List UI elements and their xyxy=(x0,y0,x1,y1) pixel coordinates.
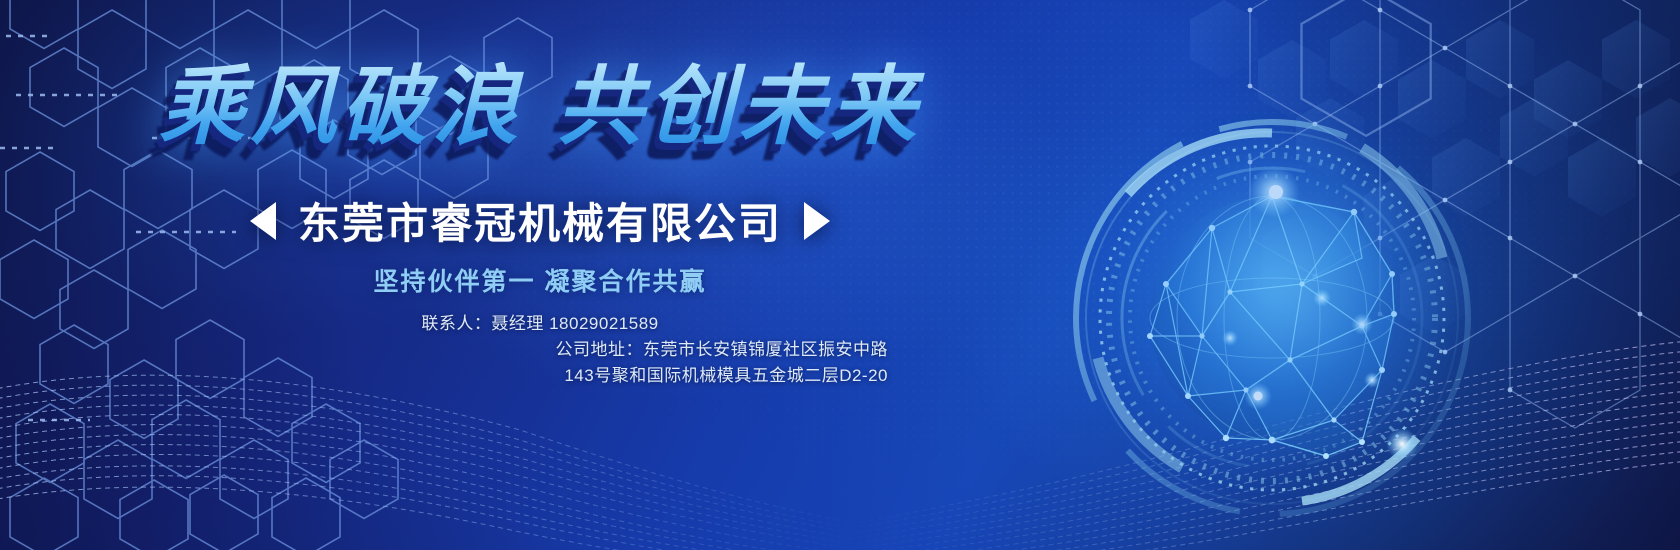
globe-glow xyxy=(1102,138,1452,488)
network-globe-graphic xyxy=(1062,108,1482,528)
company-slogan: 坚持伙伴第一 凝聚合作共赢 xyxy=(0,262,1080,298)
company-name-row: 东莞市睿冠机械有限公司 xyxy=(0,190,1080,251)
headline-part-2: 共创未来 xyxy=(557,59,921,155)
company-name: 东莞市睿冠机械有限公司 xyxy=(298,190,782,251)
address-label: 公司地址： xyxy=(556,340,644,359)
contact-person-line: 联系人：聂经理 18029021589 xyxy=(0,311,1080,337)
company-address-block: 公司地址：东莞市长安镇锦厦社区振安中路143号聚和国际机械模具五金城二层D2-2… xyxy=(550,337,888,389)
promo-banner: 乘风破浪共创未来 东莞市睿冠机械有限公司 坚持伙伴第一 凝聚合作共赢 联系人：聂… xyxy=(0,0,1680,550)
triangle-right-icon xyxy=(804,202,830,240)
main-headline: 乘风破浪共创未来 xyxy=(0,62,1080,152)
headline-part-1: 乘风破浪 xyxy=(159,59,523,155)
banner-content: 乘风破浪共创未来 东莞市睿冠机械有限公司 坚持伙伴第一 凝聚合作共赢 联系人：聂… xyxy=(0,0,1080,550)
triangle-left-icon xyxy=(250,202,276,240)
